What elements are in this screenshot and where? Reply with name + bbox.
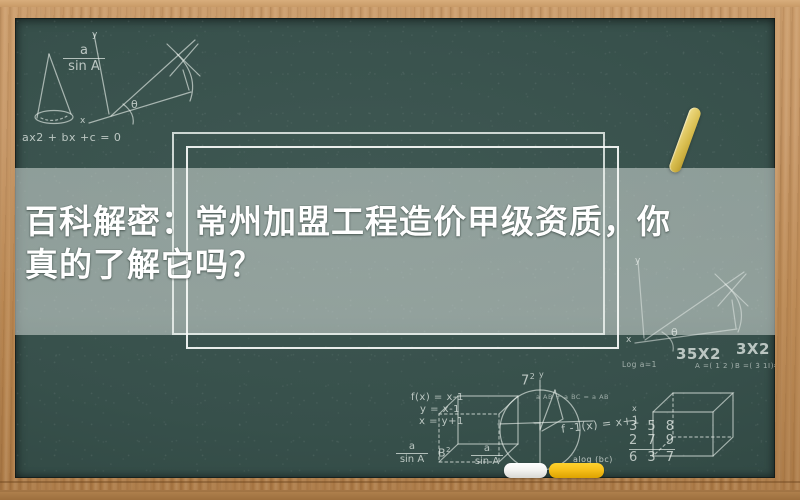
page-title: 百科解密：常州加盟工程造价甲级资质，你 真的了解它吗？ [25,200,775,286]
chalk-sum-row-1: 3 5 8 [629,420,677,434]
wood-frame-top [0,0,800,7]
chalk-axis-label-y-left: y [92,30,98,40]
chalk-note-power-7: 72 [521,372,535,388]
chalk-angle-theta-right: θ [671,326,678,339]
chalk-note-power-b2: B2 [438,446,451,460]
chalk-note-matrix-i: I =( 1 0 ) [768,362,775,370]
chalk-angle-theta-left: θ [131,98,138,111]
chalk-term-3x2: 3X2 [736,340,770,358]
chalk-note-function-fx: f(x) = x-1 [411,392,464,403]
chalk-stick-yellow-angled [668,106,703,174]
chalkboard-surface: a / sin A asin A y x θ ax2 + bx +c = 0 [15,18,775,478]
chalk-sum-row-3: 6 3 7 [629,451,677,465]
chalk-axis-label-x-right: x [626,335,632,345]
chalk-note-matrix-a: A =( 1 2 ) [695,362,734,370]
chalk-sum-rule [629,449,675,450]
chalk-term-35x2: 35X2 [676,345,721,363]
page-title-line-2: 真的了解它吗？ [25,243,775,286]
chalk-note-triangle-inequality: a AB + a BC = a AB [536,393,609,401]
chalk-note-law-of-sines-2: asin A [396,442,428,465]
chalk-sum-row-2: 2 7 9 [629,434,677,448]
chalk-note-matrix-b: B =( 3 1 ) [735,362,774,370]
wood-ledge-line-secondary [0,490,800,492]
chalk-axis-label-x-left: x [80,116,86,126]
chalk-note-quadratic-equation: ax2 + bx +c = 0 [22,131,121,144]
chalk-stick-yellow [549,463,604,478]
chalk-note-law-of-sines-3: asin A [471,444,503,467]
chalk-note-log-base-one: Log a=1 [622,360,657,369]
chalk-note-inverse-function: f -1(x) = x+1 [561,413,641,436]
chalk-note-law-of-sines-1: a / sin A asin A [63,44,105,74]
chalk-axis-label-x-circle: x [632,404,637,413]
chalk-note-function-y: y = x-1 [420,404,460,415]
chalk-note-function-x: x = y+1 [419,416,464,427]
blackboard-scene: a / sin A asin A y x θ ax2 + bx +c = 0 [0,0,800,500]
chalk-axis-label-y-circle: y [539,370,544,379]
chalk-note-column-sum: 3 5 8 2 7 9 6 3 7 [629,420,677,465]
wood-ledge-line [0,481,800,483]
chalk-stick-white [504,463,547,478]
page-title-line-1: 百科解密：常州加盟工程造价甲级资质，你 [25,200,775,243]
